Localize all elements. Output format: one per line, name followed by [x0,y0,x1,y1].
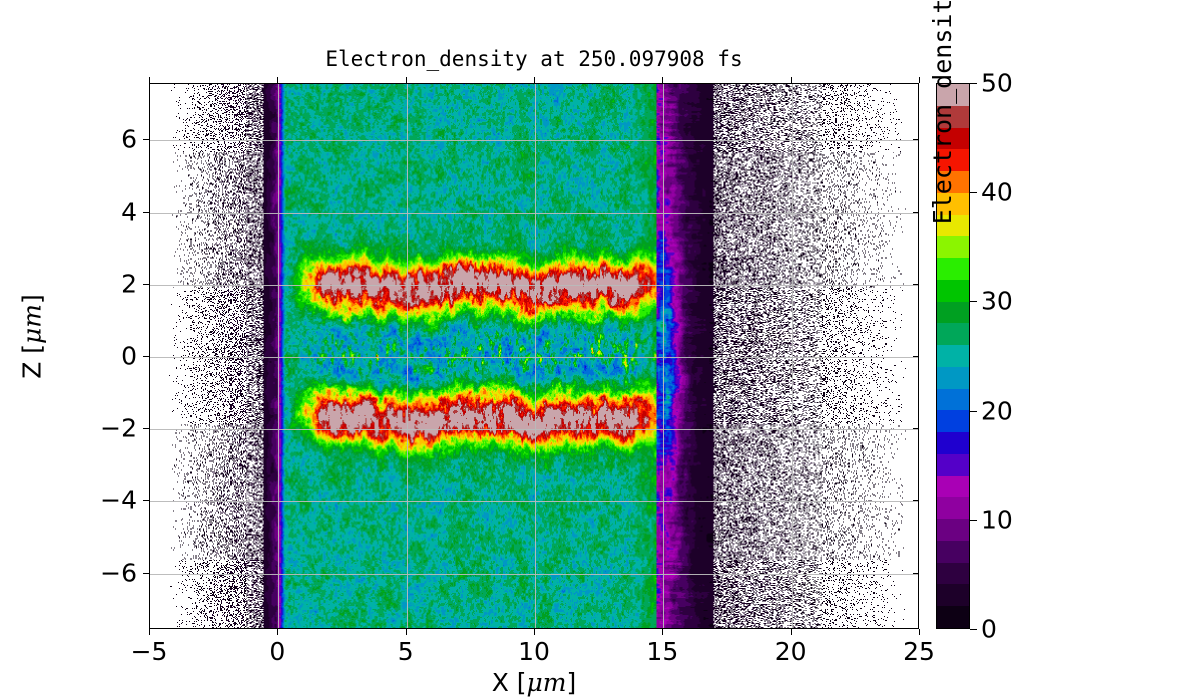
y-tick-mark [913,284,919,285]
colorbar-tick-mark [970,192,977,193]
colorbar-label: Electron_density[nc] [928,0,962,356]
y-tick-mark [913,356,919,357]
x-tick-mark [791,629,792,635]
y-tick-mark [143,356,149,357]
colorbar-segment [937,541,969,563]
x-tick-label: 0 [269,637,285,666]
y-tick-label: −4 [100,486,137,515]
colorbar-segment [937,519,969,541]
x-tick-mark [277,77,278,83]
colorbar-tick-label: 50 [981,69,1013,98]
colorbar-segment [937,563,969,585]
y-tick-label: −2 [100,414,137,443]
colorbar-tick-label: 30 [981,287,1013,316]
x-tick-mark [534,629,535,635]
colorbar-segment [937,389,969,411]
y-tick-label: −6 [100,558,137,587]
y-tick-mark [913,428,919,429]
y-tick-mark [143,573,149,574]
x-axis-label: X [μm] [149,668,919,697]
colorbar-segment [937,497,969,519]
colorbar-tick-label: 0 [981,615,997,644]
x-tick-label: 15 [646,637,678,666]
colorbar-segment [937,432,969,454]
y-tick-mark [143,284,149,285]
colorbar-tick-mark [970,411,977,412]
y-tick-label: 4 [121,197,137,226]
colorbar-segment [937,476,969,498]
figure-root: Electron_density at 250.097908 fs −50510… [0,0,1200,700]
y-tick-label: 6 [121,125,137,154]
x-tick-mark [149,77,150,83]
plot-axes [149,83,919,629]
plot-title: Electron_density at 250.097908 fs [149,47,919,71]
y-tick-mark [913,500,919,501]
y-tick-mark [913,212,919,213]
x-tick-mark [277,629,278,635]
x-tick-mark [919,629,920,635]
colorbar-segment [937,410,969,432]
x-tick-label: 5 [398,637,414,666]
x-tick-mark [919,77,920,83]
colorbar-tick-label: 40 [981,178,1013,207]
colorbar-tick-label: 20 [981,396,1013,425]
colorbar-segment [937,606,969,628]
colorbar-tick-mark [970,83,977,84]
x-tick-mark [791,77,792,83]
colorbar-segment [937,454,969,476]
y-tick-mark [913,573,919,574]
x-tick-mark [662,77,663,83]
y-tick-mark [143,500,149,501]
y-tick-mark [143,428,149,429]
colorbar-segment [937,584,969,606]
colorbar-tick-mark [970,520,977,521]
x-tick-label: 10 [518,637,550,666]
y-tick-mark [913,139,919,140]
y-tick-label: 2 [121,269,137,298]
x-tick-mark [406,77,407,83]
y-tick-mark [143,139,149,140]
x-tick-mark [662,629,663,635]
y-tick-label: 0 [121,342,137,371]
x-tick-mark [534,77,535,83]
x-tick-label: 25 [903,637,935,666]
colorbar-segment [937,367,969,389]
x-tick-label: 20 [775,637,807,666]
x-tick-mark [406,629,407,635]
density-heatmap [150,84,918,628]
x-tick-mark [149,629,150,635]
x-tick-label: −5 [131,637,168,666]
y-tick-mark [143,212,149,213]
y-axis-label: Z [μm] [18,227,47,447]
colorbar-tick-mark [970,301,977,302]
colorbar-tick-mark [970,629,977,630]
colorbar-tick-label: 10 [981,505,1013,534]
